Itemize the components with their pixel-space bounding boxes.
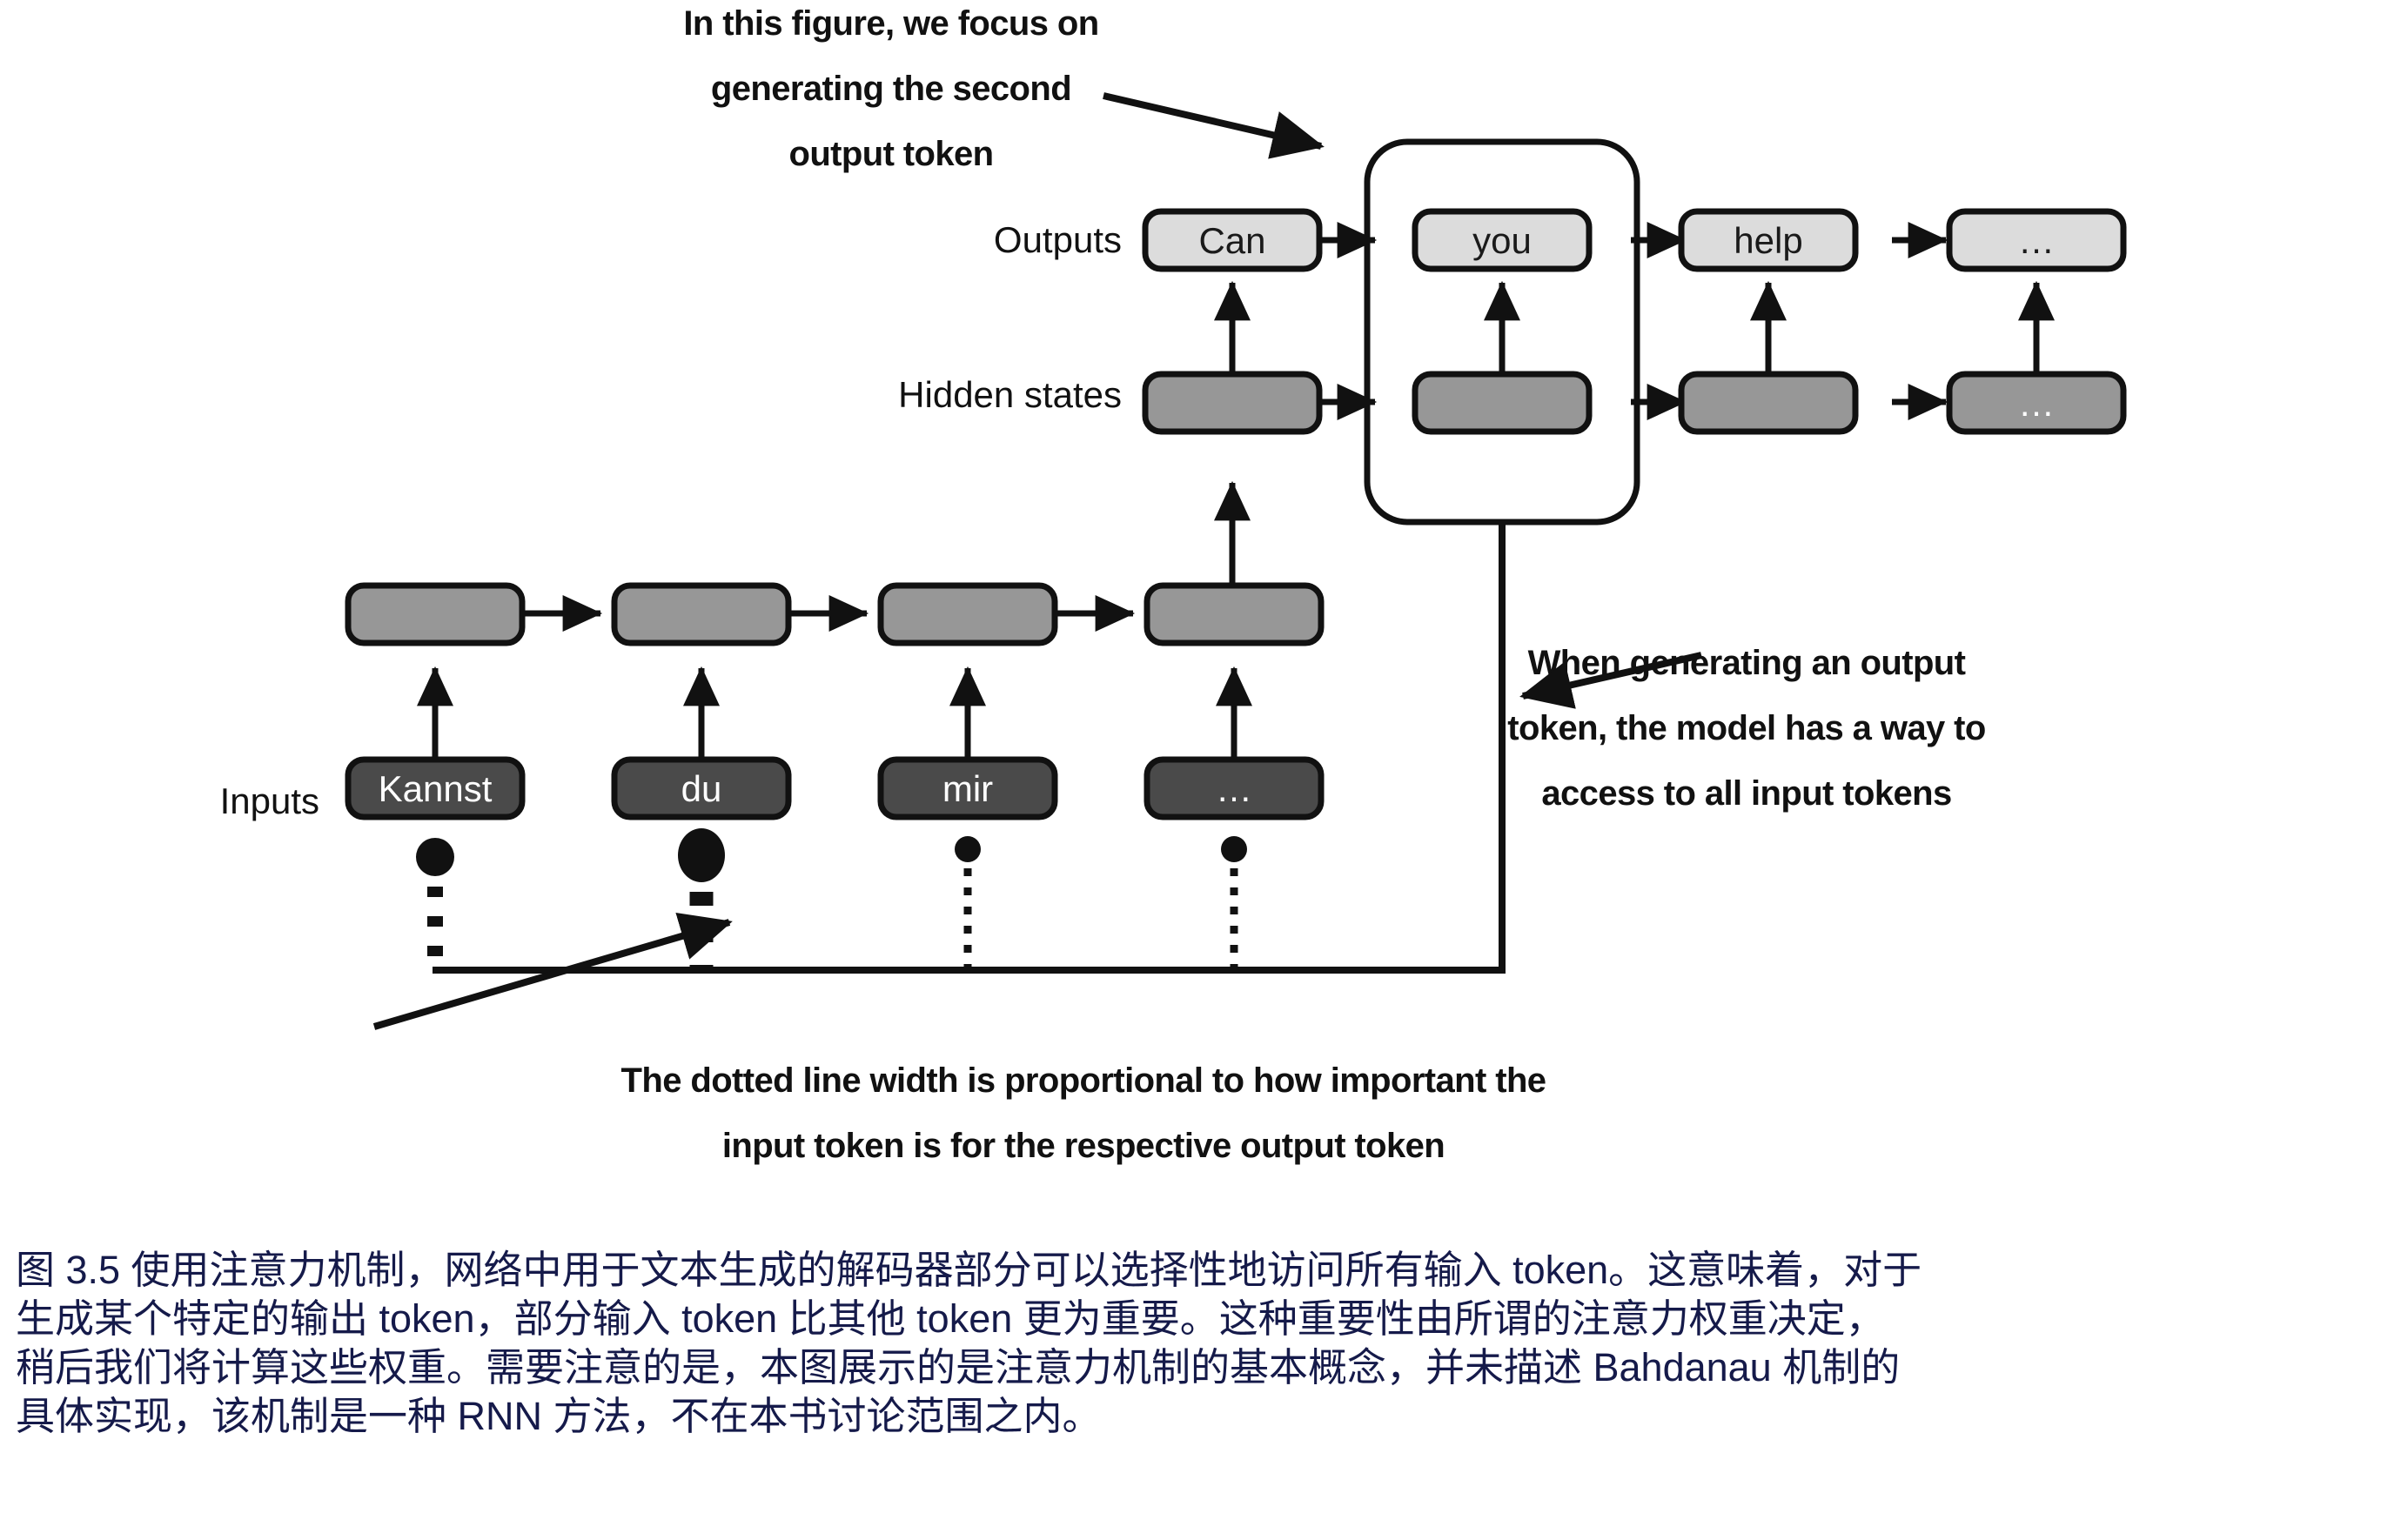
figure-page: Outputs Hidden states Inputs Can you hel… (0, 0, 2381, 1540)
figure-caption: 图 3.5 使用注意力机制，网络中用于文本生成的解码器部分可以选择性地访问所有输… (16, 1246, 2365, 1441)
annotation-pointer-arrow (1103, 96, 1321, 146)
encoder-box-0[interactable] (348, 586, 522, 643)
row-label-outputs: Outputs (994, 219, 1122, 260)
output-box-1[interactable]: you (1415, 211, 1589, 269)
caption-line: 稍后我们将计算这些权重。需要注意的是，本图展示的是注意力机制的基本概念，并未描述… (16, 1343, 2365, 1392)
annotation-line: The dotted line width is proportional to… (621, 1061, 1546, 1100)
output-token-label: … (2018, 220, 2055, 261)
output-token-label: you (1472, 220, 1532, 261)
input-to-encoder-arrows (435, 668, 1234, 757)
input-box-2[interactable]: mir (881, 760, 1055, 817)
annotation-line: input token is for the respective output… (722, 1127, 1445, 1165)
input-box-3[interactable]: … (1147, 760, 1321, 817)
annotation-dotted-width-note: The dotted line width is proportional to… (374, 922, 1546, 1165)
annotation-pointer-arrow (374, 922, 729, 1027)
hidden-box-3[interactable]: … (1949, 374, 2123, 432)
hidden-box-2[interactable] (1681, 374, 1855, 432)
output-token-label: help (1734, 220, 1802, 261)
input-token-label: … (1216, 768, 1252, 809)
input-box-0[interactable]: Kannst (348, 760, 522, 817)
annotation-focus-note: In this figure, we focus on generating t… (683, 4, 1321, 173)
output-box-3[interactable]: … (1949, 211, 2123, 269)
caption-line: 图 3.5 使用注意力机制，网络中用于文本生成的解码器部分可以选择性地访问所有输… (16, 1246, 2365, 1295)
attention-diagram: Outputs Hidden states Inputs Can you hel… (0, 0, 2381, 1218)
encoder-box-2[interactable] (881, 586, 1055, 643)
input-box-1[interactable]: du (614, 760, 788, 817)
output-token-label: Can (1198, 220, 1265, 261)
attention-weight-lines (416, 828, 1247, 970)
row-label-hidden-states: Hidden states (898, 374, 1122, 415)
hidden-box-0[interactable] (1145, 374, 1319, 432)
hidden-box-1[interactable] (1415, 374, 1589, 432)
row-label-inputs: Inputs (220, 780, 319, 821)
annotation-line: access to all input tokens (1541, 774, 1951, 813)
output-box-2[interactable]: help (1681, 211, 1855, 269)
input-token-label: du (681, 768, 722, 809)
caption-line: 具体实现，该机制是一种 RNN 方法，不在本书讨论范围之内。 (16, 1392, 2365, 1441)
input-token-label: mir (942, 768, 993, 809)
hidden-token-label: … (2018, 383, 2055, 424)
annotation-line: In this figure, we focus on (683, 4, 1098, 43)
annotation-line: token, the model has a way to (1507, 709, 1985, 747)
annotation-line: generating the second (711, 70, 1071, 108)
annotation-access-note: When generating an output token, the mod… (1507, 644, 1985, 813)
output-box-0[interactable]: Can (1145, 211, 1319, 269)
encoder-box-3[interactable] (1147, 586, 1321, 643)
annotation-line: output token (789, 135, 994, 173)
caption-line: 生成某个特定的输出 token，部分输入 token 比其他 token 更为重… (16, 1295, 2365, 1343)
encoder-box-1[interactable] (614, 586, 788, 643)
input-token-label: Kannst (379, 768, 493, 809)
